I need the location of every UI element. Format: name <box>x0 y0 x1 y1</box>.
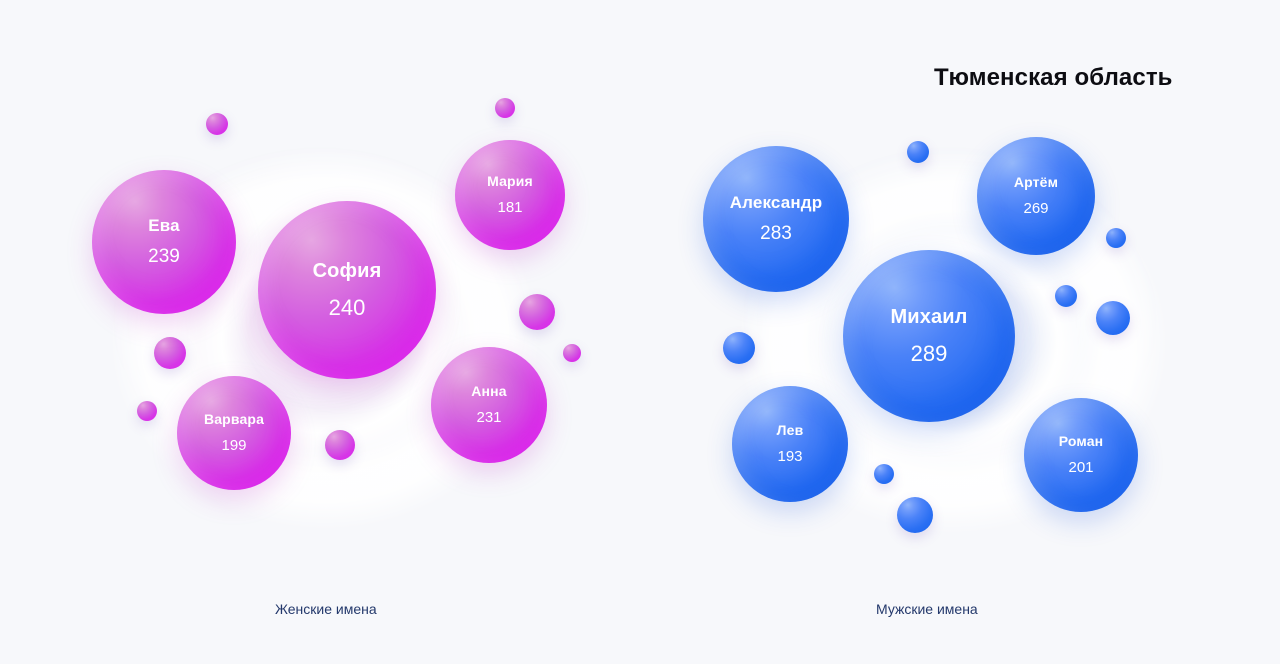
bubble-value-label: 239 <box>148 246 180 268</box>
decorative-bubble <box>723 332 755 364</box>
decorative-bubble <box>563 344 581 362</box>
decorative-bubble <box>1055 285 1077 307</box>
bubble-name-label: Роман <box>1059 433 1104 449</box>
decorative-bubble <box>519 294 555 330</box>
bubble-name-label: Александр <box>730 193 823 213</box>
bubble-name-label: Артём <box>1014 174 1058 190</box>
bubble-value-label: 201 <box>1068 459 1093 476</box>
bubble-value-label: 289 <box>911 341 948 366</box>
name-bubble[interactable]: Михаил289 <box>843 250 1015 422</box>
bubble-name-label: София <box>313 260 382 283</box>
name-bubble[interactable]: София240 <box>258 201 436 379</box>
bubble-name-label: Анна <box>471 383 506 399</box>
name-bubble[interactable]: Ева239 <box>92 170 236 314</box>
bubble-name-label: Михаил <box>890 306 967 329</box>
bubble-value-label: 283 <box>760 223 792 245</box>
bubble-name-label: Варвара <box>204 411 264 427</box>
name-bubble[interactable]: Лев193 <box>732 386 848 502</box>
name-bubble[interactable]: Александр283 <box>703 146 849 292</box>
bubble-value-label: 231 <box>476 409 501 426</box>
bubble-value-label: 181 <box>497 199 522 216</box>
bubble-name-label: Ева <box>148 216 179 236</box>
bubble-name-label: Мария <box>487 173 533 189</box>
decorative-bubble <box>907 141 929 163</box>
bubble-value-label: 193 <box>777 448 802 465</box>
decorative-bubble <box>325 430 355 460</box>
bubble-chart-root: Тюменская область Женские имена Мужские … <box>0 0 1280 664</box>
name-bubble[interactable]: Артём269 <box>977 137 1095 255</box>
name-bubble[interactable]: Варвара199 <box>177 376 291 490</box>
name-bubble[interactable]: Мария181 <box>455 140 565 250</box>
bubble-value-label: 240 <box>329 295 366 320</box>
decorative-bubble <box>1106 228 1126 248</box>
bubble-name-label: Лев <box>777 422 804 438</box>
caption-female: Женские имена <box>275 601 377 617</box>
decorative-bubble <box>1096 301 1130 335</box>
decorative-bubble <box>137 401 157 421</box>
name-bubble[interactable]: Анна231 <box>431 347 547 463</box>
caption-male: Мужские имена <box>876 601 978 617</box>
decorative-bubble <box>206 113 228 135</box>
bubble-value-label: 269 <box>1023 200 1048 217</box>
decorative-bubble <box>154 337 186 369</box>
decorative-bubble <box>897 497 933 533</box>
decorative-bubble <box>874 464 894 484</box>
bubble-value-label: 199 <box>221 437 246 454</box>
name-bubble[interactable]: Роман201 <box>1024 398 1138 512</box>
decorative-bubble <box>495 98 515 118</box>
